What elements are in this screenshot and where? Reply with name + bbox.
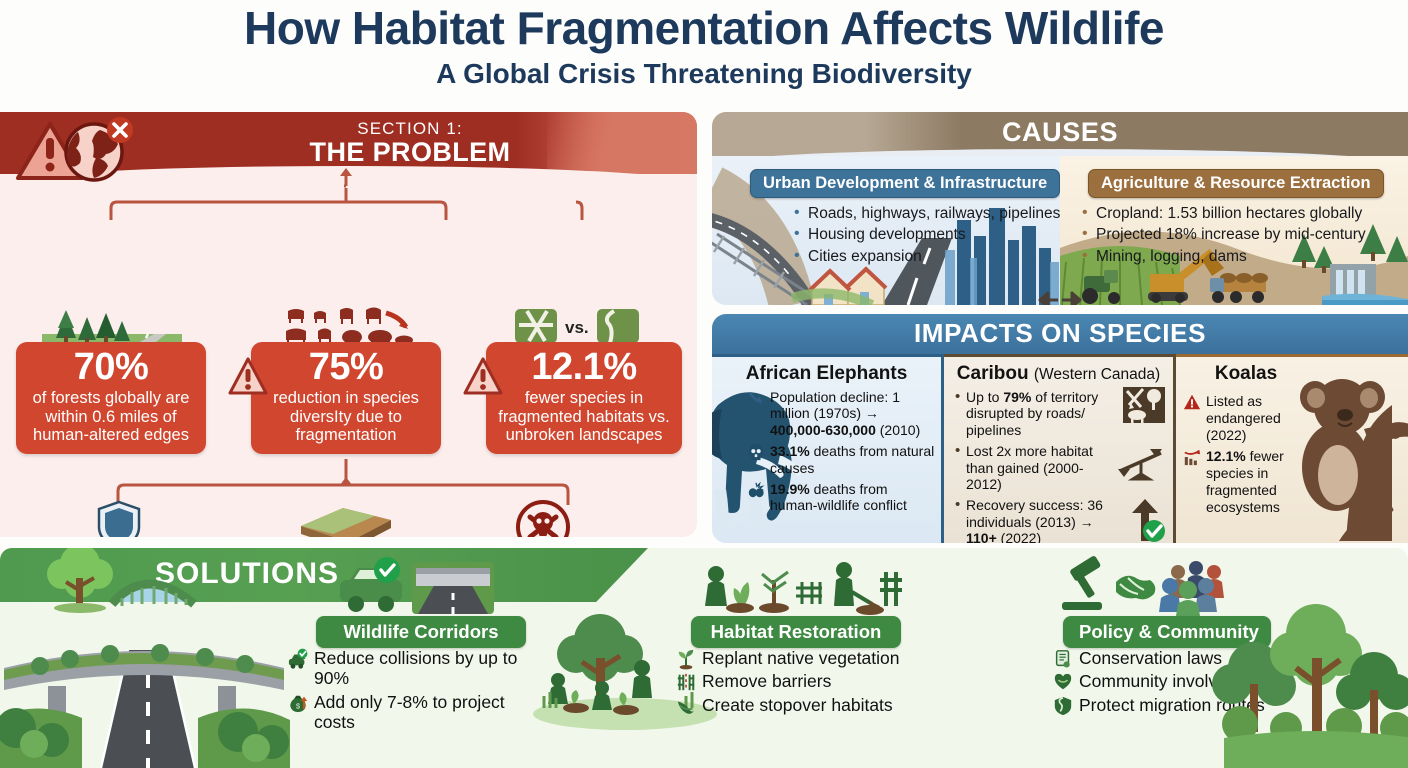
car-check-icon <box>288 649 308 669</box>
solution-item: Create stopover habitats <box>676 695 916 715</box>
fact-part-bold: 19.9% <box>770 481 810 497</box>
fact-part: Recovery success: 36 individuals (2013) … <box>966 497 1103 529</box>
svg-text:vs.: vs. <box>565 318 589 337</box>
heart-hands-icon <box>1053 672 1073 692</box>
fact-part: Listed as endangered (2022) <box>1206 393 1281 443</box>
causes-heading: CAUSES <box>712 117 1408 148</box>
skull-crossbones-icon <box>512 499 574 537</box>
cause-item: Roads, highways, railways, pipelines <box>794 203 1060 224</box>
cause-pill-urban: Urban Development & Infrastructure <box>750 169 1060 198</box>
species-fact: Recovery success: 36 individuals (2013) … <box>966 497 1112 543</box>
solution-list-restoration: Replant native vegetation Remove barrier… <box>676 648 916 718</box>
wildlife-overpass-art <box>0 624 290 768</box>
solution-item-text: Add only 7-8% to project costs <box>314 692 505 732</box>
species-card-koalas: Koalas <box>1176 354 1408 543</box>
gavel-handshake-people-icon <box>1060 556 1240 618</box>
species-fact: Lost 2x more habitat than gained (2000-2… <box>966 443 1112 492</box>
cause-item: Cropland: 1.53 billion hectares globally <box>1082 203 1366 224</box>
species-title: Koalas <box>1215 363 1277 384</box>
stat-card-70: 70% of forests globally are within 0.6 m… <box>16 342 206 454</box>
species-name: Caribou (Western Canada) <box>944 363 1173 385</box>
cause-list-urban: Roads, highways, railways, pipelines Hou… <box>794 203 1060 267</box>
stat-card-121: 12.1% fewer species in fragmented habita… <box>486 342 682 454</box>
solution-item: $ Add only 7-8% to project costs <box>288 692 528 733</box>
skull-icon <box>747 443 765 461</box>
stat-text: reduction in species diversIty due to fr… <box>259 389 433 445</box>
cause-item: Cities expansion <box>794 246 1060 267</box>
section-kicker: SECTION 1: <box>160 119 660 139</box>
solution-item: Remove barriers <box>676 671 916 691</box>
warning-triangle-icon <box>461 355 505 403</box>
solution-item: Reduce collisions by up to 90% <box>288 648 528 689</box>
species-title: Caribou <box>957 363 1029 384</box>
shield-route-icon <box>1053 696 1073 716</box>
species-facts-koalas: Listed as endangered (2022) 12.1% fewer … <box>1206 393 1314 521</box>
down-arrow-icon <box>747 389 765 407</box>
fact-part-bold: 110+ <box>966 530 997 543</box>
species-facts-caribou: Up to 79% of territory disrupted by road… <box>966 389 1112 543</box>
species-fact: Listed as endangered (2022) <box>1206 393 1314 443</box>
cause-agriculture-extraction: Agriculture & Resource Extraction Cropla… <box>1060 156 1408 305</box>
cause-item: Mining, logging, dams <box>1082 246 1366 267</box>
scroll-law-icon <box>1053 649 1073 669</box>
impacts-heading: IMPACTS ON SPECIES <box>712 318 1408 349</box>
cause-item: Projected 18% increase by mid-century <box>1082 224 1366 245</box>
planting-people-icon <box>700 558 900 618</box>
solution-list-corridors: Reduce collisions by up to 90% $ Add onl… <box>288 648 528 735</box>
species-fact: 33.1% deaths from natural causes <box>770 443 936 476</box>
solution-item-text: Reduce collisions by up to 90% <box>314 648 517 688</box>
up-arrow-check-icon <box>1121 497 1167 543</box>
infographic-canvas: How Habitat Fragmentation Affects Wildli… <box>0 0 1408 768</box>
fact-part-bold: 79% <box>1003 389 1031 405</box>
species-card-caribou: Caribou (Western Canada) Up to 79% of te… <box>944 354 1176 543</box>
forest-art-right <box>1224 598 1408 768</box>
shield-habitat-icon <box>75 500 163 537</box>
fact-part: Lost 2x more habitat than gained (2000-2… <box>966 443 1093 492</box>
fact-part-bold: 33.1% <box>770 443 810 459</box>
stat-value: 75% <box>259 348 433 388</box>
fact-part: Population decline: 1 million (1970s) → <box>770 389 900 421</box>
stat-text: fewer species in fragmented habitats vs.… <box>494 389 674 445</box>
title-block: How Habitat Fragmentation Affects Wildli… <box>0 4 1408 91</box>
cause-item: Housing developments <box>794 224 1060 245</box>
solution-item-text: Conservation laws <box>1079 648 1222 668</box>
cause-urban-development: Urban Development & Infrastructure Roads… <box>712 156 1060 305</box>
double-arrow-icon <box>1036 287 1084 305</box>
solution-item-text: Create stopover habitats <box>702 695 893 715</box>
solution-item-text: Replant native vegetation <box>702 648 900 668</box>
species-fact: Up to 79% of territory disrupted by road… <box>966 389 1112 438</box>
warning-triangle-icon <box>1183 393 1201 411</box>
solution-pill-restoration: Habitat Restoration <box>691 616 901 648</box>
solution-item-text: Remove barriers <box>702 671 831 691</box>
fact-part: Up to <box>966 389 1003 405</box>
cause-list-agriculture: Cropland: 1.53 billion hectares globally… <box>1082 203 1366 267</box>
fact-part-bold: 12.1% <box>1206 448 1246 464</box>
species-fact: Population decline: 1 million (1970s) → … <box>770 389 936 438</box>
species-fact: 19.9% deaths from human-wildlife conflic… <box>770 481 936 514</box>
money-bag-up-icon: $ <box>288 693 308 713</box>
broken-fence-icon <box>676 672 696 692</box>
species-facts-elephants: Population decline: 1 million (1970s) → … <box>770 389 936 519</box>
scales-icon <box>1117 445 1165 483</box>
impacts-panel: IMPACTS ON SPECIES African Elephants <box>712 314 1408 543</box>
fragmented-forest-icon <box>1121 385 1167 431</box>
fact-part: (2022) <box>997 530 1041 543</box>
seedling-icon <box>676 649 696 669</box>
solutions-panel: SOLUTIONS <box>0 548 1408 768</box>
solution-item: Replant native vegetation <box>676 648 916 668</box>
stat-value: 70% <box>24 348 198 388</box>
svg-text:$: $ <box>296 701 300 710</box>
green-car-overpass-icon <box>340 558 500 620</box>
stat-value: 12.1% <box>494 348 674 388</box>
solution-pill-corridors: Wildlife Corridors <box>316 616 526 648</box>
species-fact: 12.1% fewer species in fragmented ecosys… <box>1206 448 1314 515</box>
species-subtitle: (Western Canada) <box>1034 366 1160 383</box>
land-patch-icon <box>295 504 395 537</box>
stat-card-75: 75% reduction in species diversIty due t… <box>251 342 441 454</box>
tree-bridge-icon <box>40 548 220 614</box>
declining-bars-icon <box>1183 448 1201 466</box>
section-heading: THE PROBLEM <box>160 137 660 168</box>
bird-icon <box>676 696 696 716</box>
problem-header-text: SECTION 1: THE PROBLEM <box>160 119 660 168</box>
fact-part: (2010) <box>876 422 920 438</box>
causes-panel: CAUSES <box>712 112 1408 305</box>
page-subtitle: A Global Crisis Threatening Biodiversity <box>0 56 1408 91</box>
stat-text: of forests globally are within 0.6 miles… <box>24 389 198 445</box>
problem-panel: SECTION 1: THE PROBLEM <box>0 112 697 537</box>
warning-globe-x-icon <box>8 116 150 188</box>
cause-pill-agriculture: Agriculture & Resource Extraction <box>1088 169 1384 198</box>
warning-triangle-icon <box>226 355 270 403</box>
page-title: How Habitat Fragmentation Affects Wildli… <box>0 4 1408 54</box>
fact-part-bold: 400,000-630,000 <box>770 422 876 438</box>
conflict-icon <box>747 481 765 499</box>
species-card-african-elephants: African Elephants Population decline: 1 … <box>712 354 944 543</box>
